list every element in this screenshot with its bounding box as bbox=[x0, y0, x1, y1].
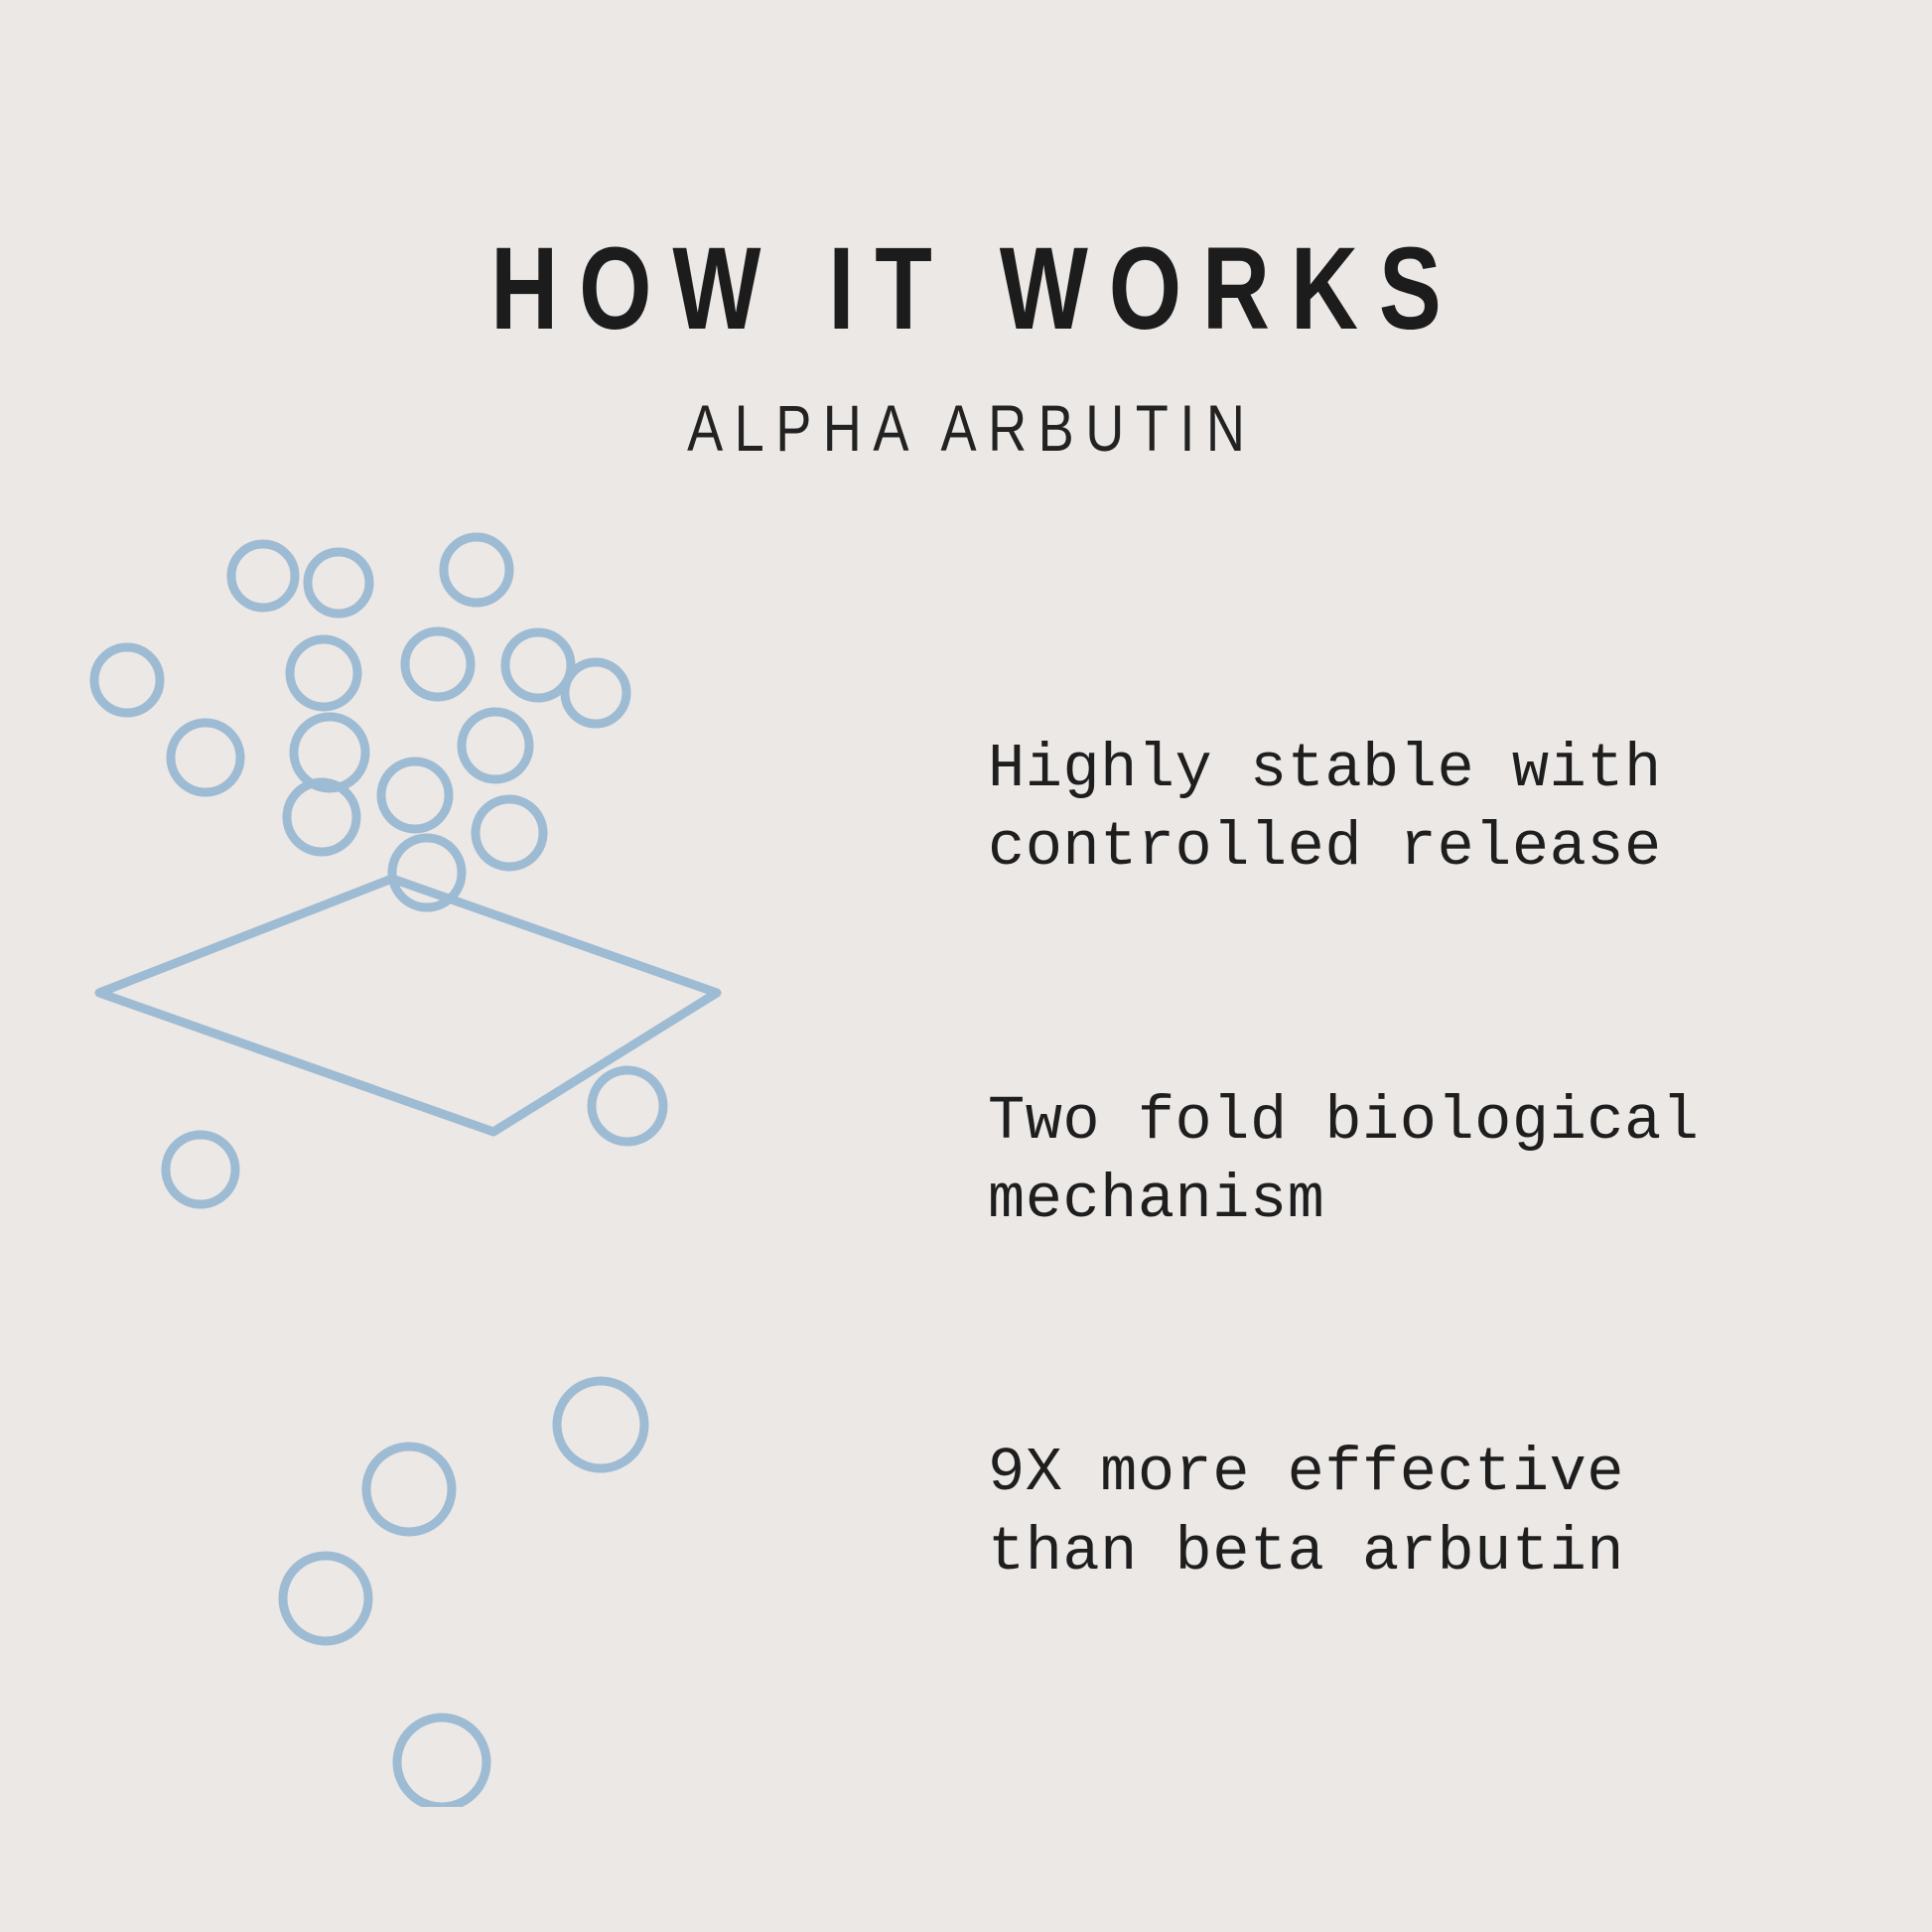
molecule-circle bbox=[381, 761, 449, 829]
illustration-container bbox=[60, 516, 794, 1807]
benefit-2-line-1: Two fold biological bbox=[988, 1082, 1881, 1161]
molecule-circle bbox=[308, 552, 369, 614]
benefit-3-line-2: than beta arbutin bbox=[988, 1513, 1881, 1591]
molecules-penetrating-layer-icon bbox=[60, 516, 794, 1807]
benefit-item-3: 9X more effective than beta arbutin bbox=[988, 1434, 1881, 1591]
molecule-circle bbox=[392, 838, 462, 907]
molecule-circle bbox=[231, 544, 295, 608]
benefit-1-line-2: controlled release bbox=[988, 808, 1881, 887]
skin-layer-plane bbox=[99, 879, 717, 1132]
molecule-circle bbox=[476, 799, 543, 867]
molecule-circle bbox=[462, 712, 529, 779]
header-block: HOW IT WORKS ALPHA ARBUTIN bbox=[0, 0, 1932, 461]
benefit-2-line-2: mechanism bbox=[988, 1161, 1881, 1239]
benefit-3-line-1: 9X more effective bbox=[988, 1434, 1881, 1512]
molecule-circles bbox=[94, 537, 663, 1807]
molecule-circle bbox=[290, 639, 357, 707]
benefit-item-2: Two fold biological mechanism bbox=[988, 1082, 1881, 1240]
molecule-circle bbox=[397, 1718, 486, 1807]
benefits-list: Highly stable with controlled release Tw… bbox=[988, 730, 1881, 1591]
page-subtitle: ALPHA ARBUTIN bbox=[174, 347, 1758, 461]
page-title: HOW IT WORKS bbox=[194, 0, 1739, 347]
molecule-circle bbox=[444, 537, 509, 603]
molecule-circle bbox=[565, 662, 626, 724]
molecule-circle bbox=[171, 723, 240, 792]
molecule-circle bbox=[294, 717, 365, 788]
molecule-circle bbox=[366, 1447, 452, 1532]
molecule-circle bbox=[592, 1070, 663, 1142]
molecule-circle bbox=[283, 1556, 368, 1641]
infographic-canvas: HOW IT WORKS ALPHA ARBUTIN Highly stable… bbox=[0, 0, 1932, 1932]
molecule-circle bbox=[405, 631, 471, 697]
molecule-circle bbox=[557, 1381, 644, 1468]
molecule-circle bbox=[287, 782, 356, 852]
molecule-circle bbox=[94, 647, 160, 713]
molecule-circle bbox=[166, 1135, 235, 1204]
benefit-item-1: Highly stable with controlled release bbox=[988, 730, 1881, 888]
benefit-1-line-1: Highly stable with bbox=[988, 730, 1881, 808]
